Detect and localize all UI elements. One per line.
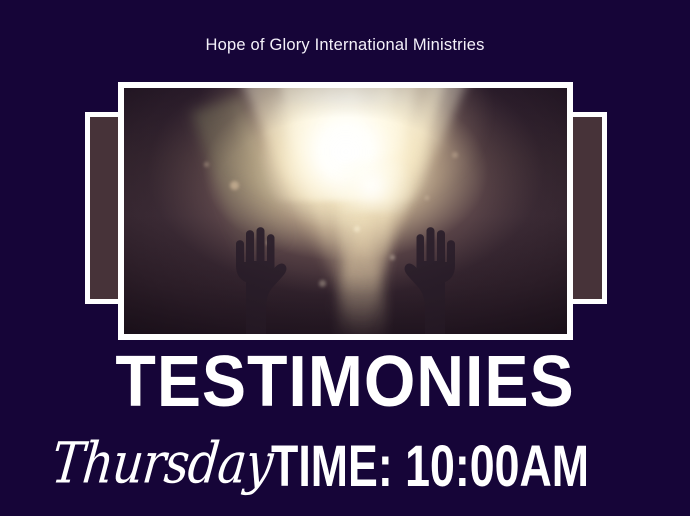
organization-name: Hope of Glory International Ministries	[0, 36, 690, 55]
hero-photo	[124, 88, 567, 334]
photo-vignette	[124, 88, 567, 334]
event-time: TIME: 10:00AM	[271, 438, 589, 496]
event-day: Thursday	[49, 435, 277, 492]
page-title: TESTIMONIES	[28, 352, 663, 414]
event-flyer: Hope of Glory International Ministries	[0, 0, 690, 516]
hero-photo-frame	[118, 82, 573, 340]
event-details: Thursday TIME: 10:00AM	[0, 432, 690, 484]
